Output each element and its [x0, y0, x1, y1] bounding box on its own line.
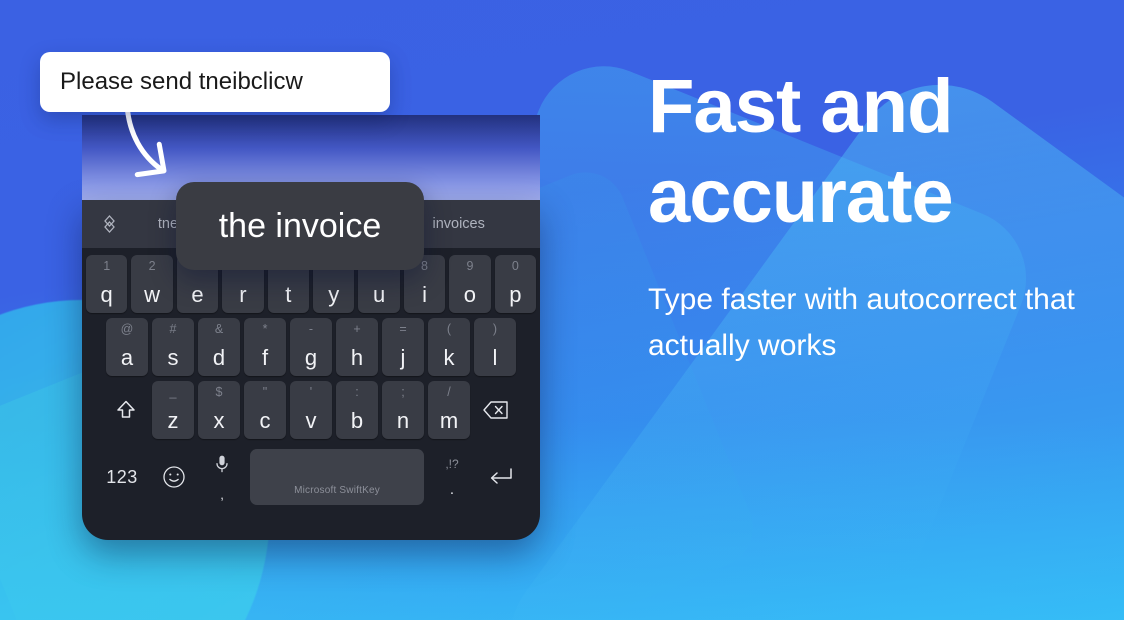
key-v[interactable]: 'v: [290, 381, 332, 439]
microphone-icon: [215, 454, 229, 479]
tooltip-text: the invoice: [219, 207, 382, 246]
key-x[interactable]: $x: [198, 381, 240, 439]
key-f[interactable]: *f: [244, 318, 286, 376]
key-label: f: [262, 347, 268, 369]
key-label: g: [305, 347, 317, 369]
smiley-face-icon[interactable]: [148, 448, 200, 506]
key-alt-label: ;: [382, 386, 424, 399]
key-k[interactable]: (k: [428, 318, 470, 376]
spacebar-label: Microsoft SwiftKey: [294, 485, 380, 496]
key-l[interactable]: )l: [474, 318, 516, 376]
key-label: k: [444, 347, 455, 369]
shift-arrow-up-icon[interactable]: [104, 381, 148, 439]
key-label: v: [306, 410, 317, 432]
key-alt-label: 0: [495, 260, 536, 273]
key-alt-label: +: [336, 323, 378, 336]
callout-bubble: Please send tneibclicw: [40, 52, 390, 112]
key-alt-label: =: [382, 323, 424, 336]
key-alt-label: 1: [86, 260, 127, 273]
key-alt-label: $: [198, 386, 240, 399]
promo-banner: tneibclicw the invoice invoices 1q 2w 3e…: [0, 0, 1124, 620]
key-label: x: [214, 410, 225, 432]
key-label: o: [464, 284, 476, 306]
key-h[interactable]: +h: [336, 318, 378, 376]
key-label: z: [168, 410, 179, 432]
key-label: w: [144, 284, 160, 306]
keyboard-row-bottom-letters: _z $x "c 'v :b ;n /m: [86, 381, 536, 439]
backspace-icon[interactable]: [474, 381, 518, 439]
key-alt-label: @: [106, 323, 148, 336]
prediction-tooltip[interactable]: the invoice: [176, 182, 424, 270]
key-label: j: [401, 347, 406, 369]
punctuation-alt-label: ,!?: [445, 458, 458, 470]
key-label: s: [168, 347, 179, 369]
headline-line-1: Fast and: [648, 62, 1078, 152]
period-label: .: [450, 482, 454, 497]
key-o[interactable]: 9o: [449, 255, 490, 313]
key-label: b: [351, 410, 363, 432]
punctuation-key[interactable]: ,!? .: [430, 448, 474, 506]
key-alt-label: -: [290, 323, 332, 336]
subtitle: Type faster with autocorrect that actual…: [648, 277, 1078, 368]
key-alt-label: *: [244, 323, 286, 336]
key-d[interactable]: &d: [198, 318, 240, 376]
callout-text: Please send tneibclicw: [60, 68, 303, 96]
key-w[interactable]: 2w: [131, 255, 172, 313]
key-rows: 1q 2w 3e 4r 5t 6y 7u 8i 9o 0p @a #s &d *…: [82, 248, 540, 506]
key-alt-label: 9: [449, 260, 490, 273]
key-alt-label: 2: [131, 260, 172, 273]
key-alt-label: _: [152, 386, 194, 399]
key-label: t: [285, 284, 291, 306]
key-label: r: [239, 284, 246, 306]
key-label: u: [373, 284, 385, 306]
key-alt-label: #: [152, 323, 194, 336]
marketing-copy: Fast and accurate Type faster with autoc…: [648, 62, 1078, 369]
page-title: Fast and accurate: [648, 62, 1078, 241]
keyboard-row-home: @a #s &d *f -g +h =j (k )l: [86, 318, 536, 376]
key-q[interactable]: 1q: [86, 255, 127, 313]
key-a[interactable]: @a: [106, 318, 148, 376]
key-label: q: [101, 284, 113, 306]
key-alt-label: ': [290, 386, 332, 399]
key-label: e: [191, 284, 203, 306]
key-j[interactable]: =j: [382, 318, 424, 376]
microphone-key[interactable]: ,: [200, 448, 244, 506]
key-c[interactable]: "c: [244, 381, 286, 439]
key-alt-label: (: [428, 323, 470, 336]
chevron-up-down-icon[interactable]: [96, 214, 122, 234]
key-p[interactable]: 0p: [495, 255, 536, 313]
key-m[interactable]: /m: [428, 381, 470, 439]
key-label: i: [422, 284, 427, 306]
keyboard-row-bottom-controls: 123: [86, 444, 536, 506]
numeric-mode-button[interactable]: 123: [96, 448, 148, 506]
key-alt-label: ": [244, 386, 286, 399]
comma-label: ,: [220, 488, 224, 501]
key-label: y: [328, 284, 339, 306]
key-label: l: [493, 347, 498, 369]
key-s[interactable]: #s: [152, 318, 194, 376]
key-label: c: [260, 410, 271, 432]
headline-line-2: accurate: [648, 152, 1078, 242]
key-label: a: [121, 347, 133, 369]
key-label: d: [213, 347, 225, 369]
key-alt-label: &: [198, 323, 240, 336]
key-alt-label: :: [336, 386, 378, 399]
key-label: p: [509, 284, 521, 306]
spacebar[interactable]: Microsoft SwiftKey: [250, 449, 424, 505]
key-alt-label: /: [428, 386, 470, 399]
key-z[interactable]: _z: [152, 381, 194, 439]
enter-return-icon[interactable]: [474, 448, 526, 506]
key-label: n: [397, 410, 409, 432]
key-b[interactable]: :b: [336, 381, 378, 439]
key-g[interactable]: -g: [290, 318, 332, 376]
key-label: h: [351, 347, 363, 369]
key-n[interactable]: ;n: [382, 381, 424, 439]
key-alt-label: ): [474, 323, 516, 336]
key-label: m: [440, 410, 458, 432]
